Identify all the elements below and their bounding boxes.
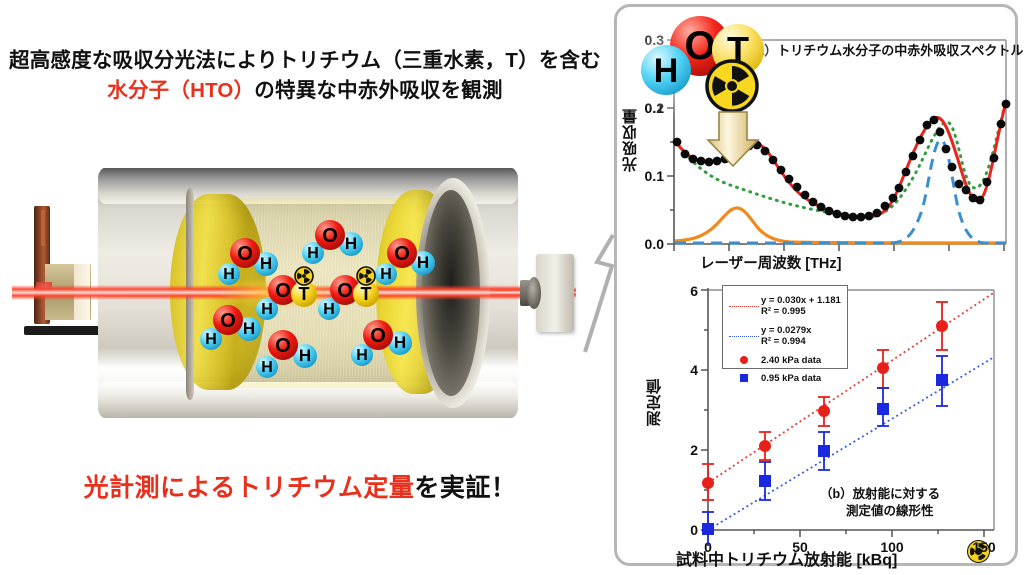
chart-b-yticks [701,290,708,530]
laser-source [14,206,100,346]
legend-marker-circle-red [727,351,761,369]
headline-highlight: 水分子（HTO） [107,79,254,102]
svg-text:50: 50 [792,539,808,555]
chart-b-xticks [708,530,984,537]
svg-text:6: 6 [690,283,698,299]
svg-text:4: 4 [690,362,698,378]
callout-connector [585,235,613,352]
poster-root: 超高感度な吸収分光法によりトリチウム（三重水素，T）を含む 水分子（HTO）の特… [0,0,1024,575]
infrared-detector [518,278,574,308]
legend-marker-dotted-red [727,297,761,315]
legend-label-data-095: 0.95 kPa data [761,373,821,384]
chart-b-ytick-labels: 0 2 4 6 [690,283,698,538]
chart-a-ytick-0: 0.0 [645,236,665,252]
headline-line2: 水分子（HTO）の特異な中赤外吸収を観測 [0,76,610,106]
chart-a-xticks [674,244,1004,251]
svg-text:100: 100 [880,539,904,555]
svg-text:150: 150 [972,539,996,555]
legend-r2-095: R² = 0.994 [761,336,811,347]
legend-label-fit-240: y = 0.030x + 1.181 [761,295,841,306]
laser-mount-highlight [41,210,45,246]
radioactive-icon [706,61,757,111]
legend-marker-square-blue [727,369,761,387]
chart-a-molecule-badge: O T H [616,8,866,208]
detector-lens [527,277,541,309]
footer-highlight: 光計測によるトリチウム定量 [84,474,415,502]
headline-line2-rest: の特異な中赤外吸収を観測 [254,79,502,102]
beam-focus-glow [218,276,338,310]
svg-text:2: 2 [690,442,698,458]
laser-base-plate [24,326,104,335]
legend-label-fit-095: y = 0.0279x [761,325,811,336]
footer-statement: 光計測によるトリチウム定量を実証！ [0,468,600,504]
legend-entry-data-240: 2.40 kPa data [727,351,843,369]
legend-r2-240: R² = 0.995 [761,306,841,317]
svg-text:0: 0 [690,522,698,538]
detector-body [536,254,574,332]
chart-b-legend: y = 0.030x + 1.181 R² = 0.995 y = 0.0279… [722,285,848,369]
gas-absorption-cell [98,168,566,418]
chart-b-xtick-labels: 0 50 100 150 [704,539,996,555]
headline: 超高感度な吸収分光法によりトリチウム（三重水素，T）を含む 水分子（HTO）の特… [0,46,610,105]
legend-entry-fit-240: y = 0.030x + 1.181 R² = 0.995 [727,291,843,321]
legend-label-data-240: 2.40 kPa data [761,355,821,366]
legend-entry-fit-095: y = 0.0279x R² = 0.994 [727,321,843,351]
legend-entry-data-095: 0.95 kPa data [727,369,843,387]
svg-text:H: H [654,52,679,90]
footer-rest: を実証！ [414,474,516,502]
headline-line1: 超高感度な吸収分光法によりトリチウム（三重水素，T）を含む [9,49,601,72]
legend-marker-dotted-blue [727,327,761,345]
